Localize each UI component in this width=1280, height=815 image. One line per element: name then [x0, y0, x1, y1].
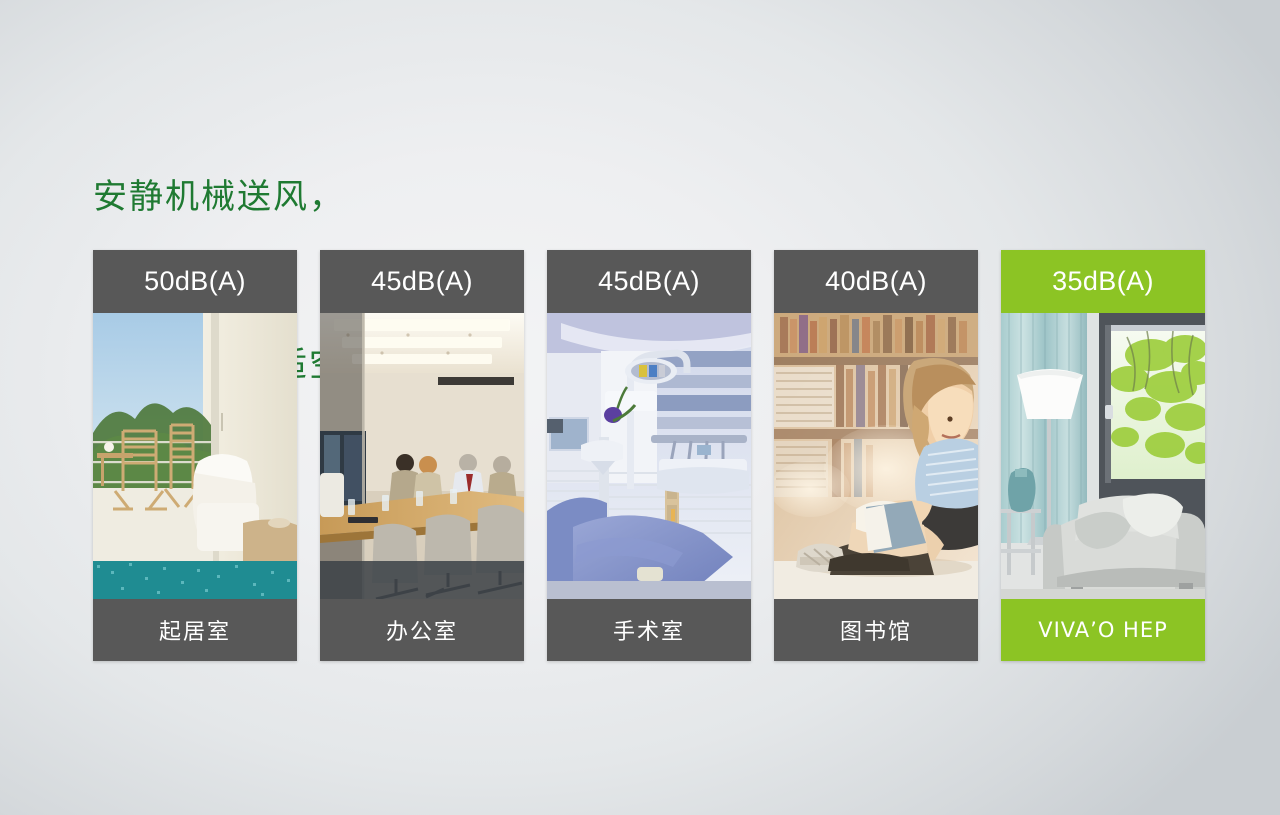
room-label: 手术室	[547, 599, 751, 661]
room-label: VIVA’O HEP	[1001, 599, 1205, 661]
noise-comparison-card-list: 50dB(A)	[93, 250, 1205, 661]
noise-level-badge: 40dB(A)	[774, 250, 978, 313]
page-title-line-1: 安静机械送风，	[93, 170, 853, 224]
noise-level-badge: 45dB(A)	[320, 250, 524, 313]
noise-card-vivao-hep[interactable]: 35dB(A)	[1001, 250, 1205, 661]
room-label: 起居室	[93, 599, 297, 661]
noise-card-library[interactable]: 40dB(A)	[774, 250, 978, 661]
noise-level-badge: 35dB(A)	[1001, 250, 1205, 313]
room-label: 办公室	[320, 599, 524, 661]
room-label: 图书馆	[774, 599, 978, 661]
noise-level-badge: 45dB(A)	[547, 250, 751, 313]
slide-canvas: 安静机械送风， 让您静享舒适空间 50dB(A)	[0, 0, 1280, 815]
operating-room-photo	[547, 313, 751, 599]
library-girl-reading-photo	[774, 313, 978, 599]
living-room-balcony-photo	[93, 313, 297, 599]
noise-card-operating-room[interactable]: 45dB(A)	[547, 250, 751, 661]
vivao-hep-living-room-photo	[1001, 313, 1205, 599]
office-meeting-room-photo	[320, 313, 524, 599]
noise-card-office[interactable]: 45dB(A)	[320, 250, 524, 661]
noise-card-living-room[interactable]: 50dB(A)	[93, 250, 297, 661]
noise-level-badge: 50dB(A)	[93, 250, 297, 313]
